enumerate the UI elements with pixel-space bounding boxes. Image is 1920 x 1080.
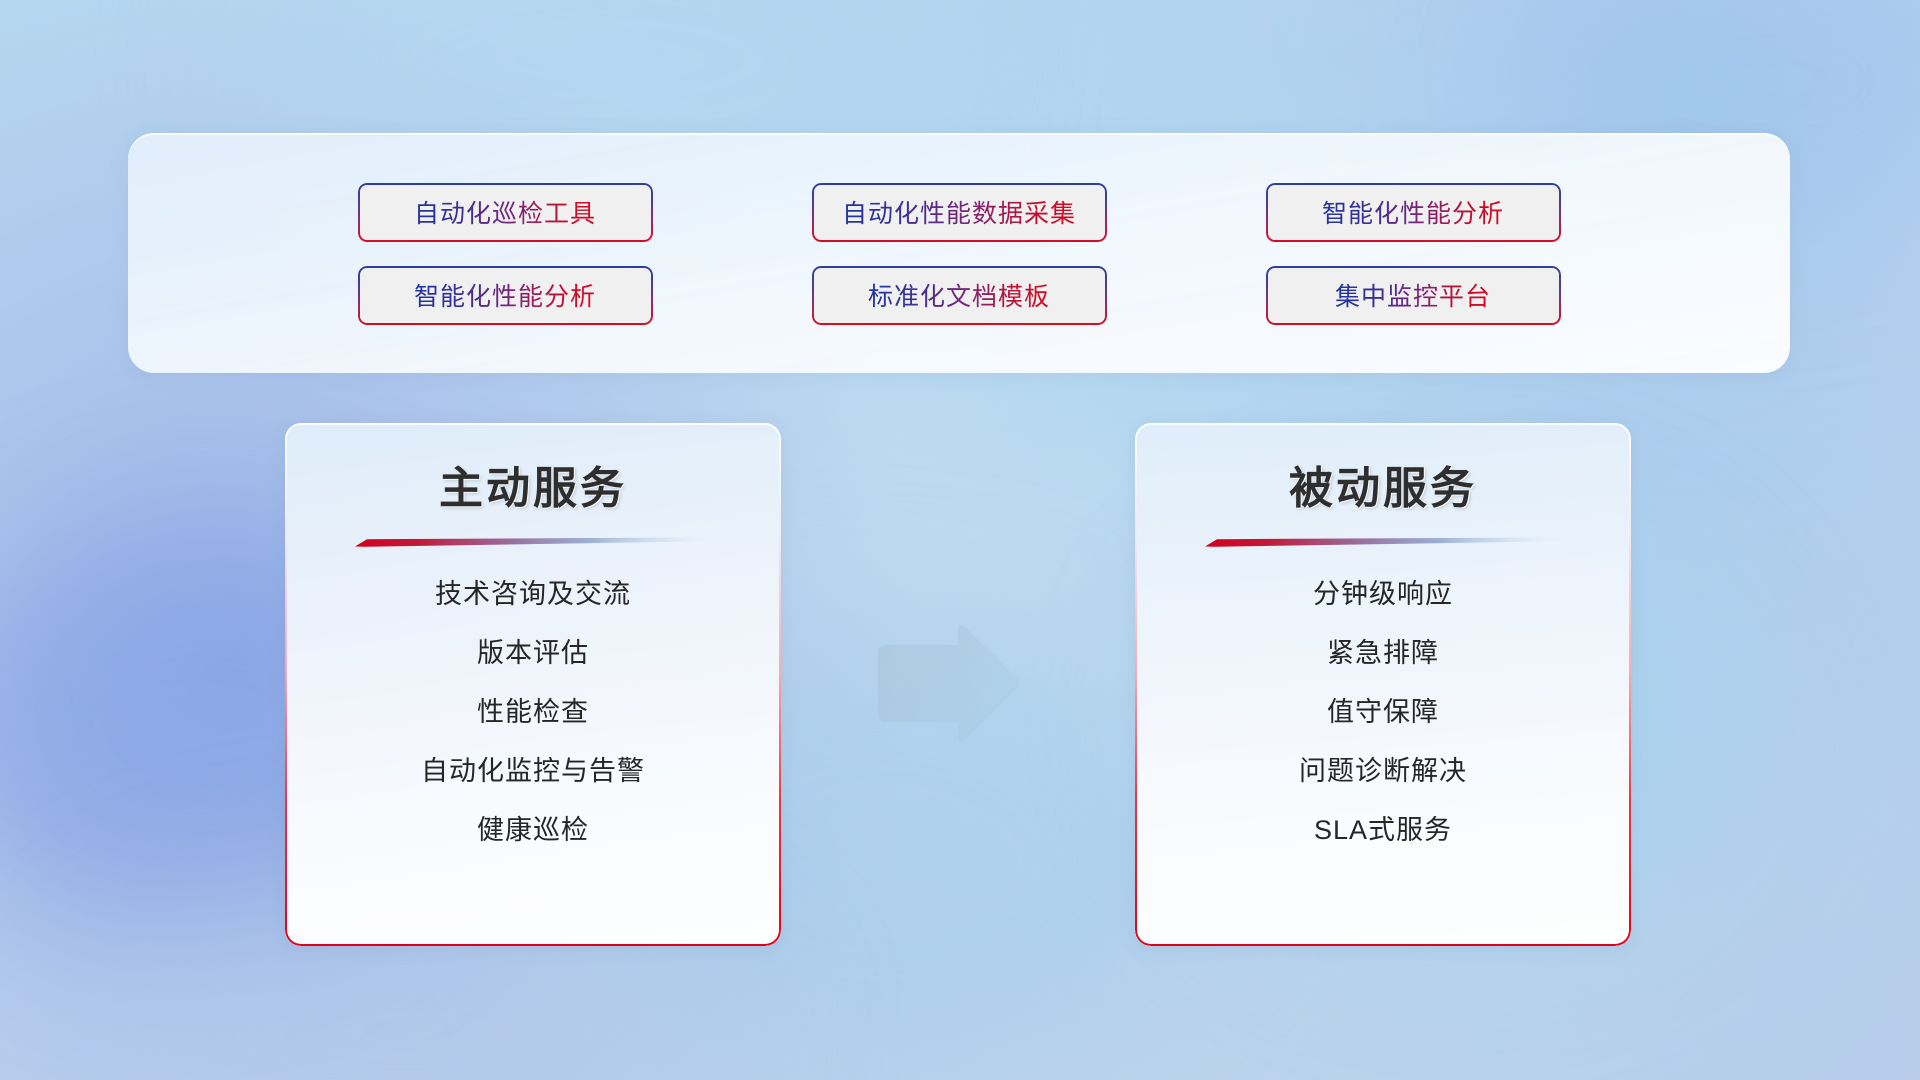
capability-pill-6[interactable]: 集中监控平台: [1266, 266, 1561, 325]
list-item: 问题诊断解决: [1299, 758, 1467, 785]
reactive-service-list: 分钟级响应 紧急排障 值守保障 问题诊断解决 SLA式服务: [1135, 581, 1631, 844]
proactive-service-title: 主动服务: [439, 452, 627, 516]
reactive-service-card: 被动服务: [1135, 423, 1631, 946]
right-arrow-icon: [872, 623, 1022, 745]
list-item: 技术咨询及交流: [435, 581, 631, 608]
list-item: 版本评估: [477, 640, 589, 667]
list-item: 性能检查: [477, 699, 589, 726]
proactive-service-list: 技术咨询及交流 版本评估 性能检查 自动化监控与告警 健康巡检: [285, 581, 781, 844]
capability-pill-label: 智能化性能分析: [1322, 194, 1504, 230]
list-item: 紧急排障: [1327, 640, 1439, 667]
capability-pill-label: 智能化性能分析: [414, 277, 596, 313]
capability-pill-grid: 自动化巡检工具 自动化性能数据采集 智能化性能分析 智能化性能分析 标准化文档模…: [358, 183, 1561, 325]
capability-pill-label: 自动化性能数据采集: [842, 194, 1076, 230]
capability-pill-5[interactable]: 标准化文档模板: [812, 266, 1107, 325]
list-item: 值守保障: [1327, 699, 1439, 726]
capability-pills-panel: 自动化巡检工具 自动化性能数据采集 智能化性能分析 智能化性能分析 标准化文档模…: [128, 133, 1790, 373]
capability-pill-1[interactable]: 自动化巡检工具: [358, 183, 653, 242]
capability-pill-label: 标准化文档模板: [868, 277, 1050, 313]
capability-pill-2[interactable]: 自动化性能数据采集: [812, 183, 1107, 242]
reactive-service-title: 被动服务: [1289, 452, 1477, 516]
capability-pill-4[interactable]: 智能化性能分析: [358, 266, 653, 325]
list-item: 健康巡检: [477, 817, 589, 844]
capability-pill-3[interactable]: 智能化性能分析: [1266, 183, 1561, 242]
list-item: 自动化监控与告警: [421, 758, 645, 785]
card-divider: [355, 537, 712, 547]
slide-canvas: 自动化巡检工具 自动化性能数据采集 智能化性能分析 智能化性能分析 标准化文档模…: [0, 0, 1920, 1080]
list-item: 分钟级响应: [1313, 581, 1453, 608]
list-item: SLA式服务: [1314, 817, 1452, 844]
capability-pill-label: 集中监控平台: [1335, 277, 1491, 313]
capability-pill-label: 自动化巡检工具: [414, 194, 596, 230]
card-divider: [1205, 537, 1562, 547]
proactive-service-card: 主动服务: [285, 423, 781, 946]
